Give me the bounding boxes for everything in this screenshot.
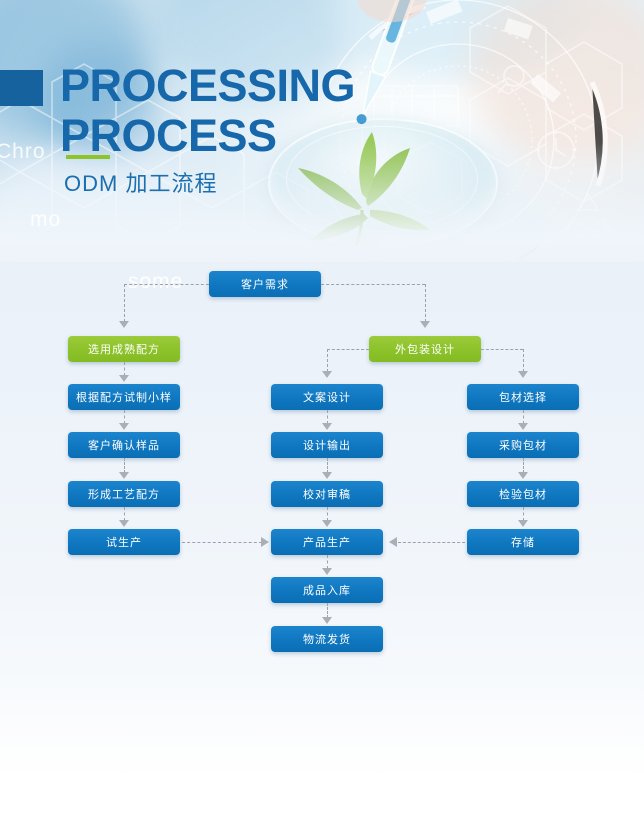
flow-node-start[interactable]: 客户需求 (209, 271, 321, 297)
connector-b1-d (124, 507, 125, 521)
connector-b3-c (523, 507, 524, 521)
flow-node-b3-step-1[interactable]: 包材选择 (467, 384, 579, 410)
arrow-down-merge-b (322, 617, 332, 624)
arrow-down-b2-c (322, 520, 332, 527)
flow-node-merge-3[interactable]: 物流发货 (271, 626, 383, 652)
flow-node-b1-step-4[interactable]: 试生产 (68, 529, 180, 555)
title-underline-rule (66, 155, 110, 159)
flow-node-branch-2-head[interactable]: 外包装设计 (369, 336, 481, 362)
flow-node-b3-step-2[interactable]: 采购包材 (467, 432, 579, 458)
flow-node-b1-step-2[interactable]: 客户确认样品 (68, 432, 180, 458)
arrow-down-b3-b (518, 472, 528, 479)
connector-b2-b (327, 458, 328, 473)
arrow-down-left-branch (119, 321, 129, 328)
arrow-down-b3-a (518, 423, 528, 430)
arrow-down-middle-col (322, 371, 332, 378)
arrow-down-b2-a (322, 423, 332, 430)
ghost-word-mo: mo (30, 208, 61, 232)
flow-node-b2-step-2[interactable]: 设计输出 (271, 432, 383, 458)
connector-drop-right (425, 284, 426, 322)
arrow-down-right-branch (420, 321, 430, 328)
connector-pkg-middle-drop (327, 349, 328, 372)
flow-node-b3-step-3[interactable]: 检验包材 (467, 481, 579, 507)
connector-pkg-to-right (481, 349, 523, 350)
connector-merge-b (327, 603, 328, 618)
arrow-down-b1-a (119, 375, 129, 382)
connector-b1-c (124, 458, 125, 473)
arrow-down-b1-b (119, 423, 129, 430)
title-line-2: PROCESS (60, 113, 620, 158)
flow-node-merge-2[interactable]: 成品入库 (271, 577, 383, 603)
flow-node-merge-1[interactable]: 产品生产 (271, 529, 383, 555)
connector-b1-b (124, 410, 125, 424)
page-title: PROCESSING PROCESS (60, 63, 620, 158)
connector-trial-to-production (182, 542, 262, 543)
arrow-right-to-production (261, 537, 269, 547)
arrow-down-right-col (518, 371, 528, 378)
connector-spine-right (321, 284, 425, 285)
connector-b1-a (124, 362, 125, 376)
connector-storage-to-production (398, 542, 465, 543)
connector-b2-a (327, 410, 328, 424)
processing-process-page: Chro mo PROCESSING PROCESS ODM 加工流程 some… (0, 0, 644, 837)
ghost-word-chro: Chro (0, 140, 46, 164)
arrow-down-b3-c (518, 520, 528, 527)
connector-pkg-right-drop (523, 349, 524, 372)
connector-spine-left (124, 284, 209, 285)
title-line-1: PROCESSING (60, 60, 355, 111)
flow-node-b1-step-3[interactable]: 形成工艺配方 (68, 481, 180, 507)
arrow-down-b1-d (119, 520, 129, 527)
connector-b3-b (523, 458, 524, 473)
flow-node-b2-step-1[interactable]: 文案设计 (271, 384, 383, 410)
connector-b2-c (327, 507, 328, 521)
arrow-down-merge-a (322, 568, 332, 575)
flow-node-b2-step-3[interactable]: 校对审稿 (271, 481, 383, 507)
page-bottom-area (0, 690, 644, 837)
hero-banner: Chro mo PROCESSING PROCESS ODM 加工流程 (0, 0, 644, 262)
flow-node-b1-step-1[interactable]: 根据配方试制小样 (68, 384, 180, 410)
connector-merge-a (327, 555, 328, 569)
process-flowchart: 客户需求 选用成熟配方 外包装设计 根据配方试制小样 客户确认样品 形成工艺配方… (0, 262, 644, 702)
flow-node-branch-1-head[interactable]: 选用成熟配方 (68, 336, 180, 362)
flow-node-b3-step-4[interactable]: 存储 (467, 529, 579, 555)
arrow-left-to-production (389, 537, 397, 547)
page-subtitle: ODM 加工流程 (64, 166, 217, 198)
arrow-down-b1-c (119, 472, 129, 479)
connector-b3-a (523, 410, 524, 424)
connector-pkg-to-middle (327, 349, 369, 350)
title-accent-block (0, 70, 43, 106)
arrow-down-b2-b (322, 472, 332, 479)
connector-drop-left (124, 284, 125, 322)
